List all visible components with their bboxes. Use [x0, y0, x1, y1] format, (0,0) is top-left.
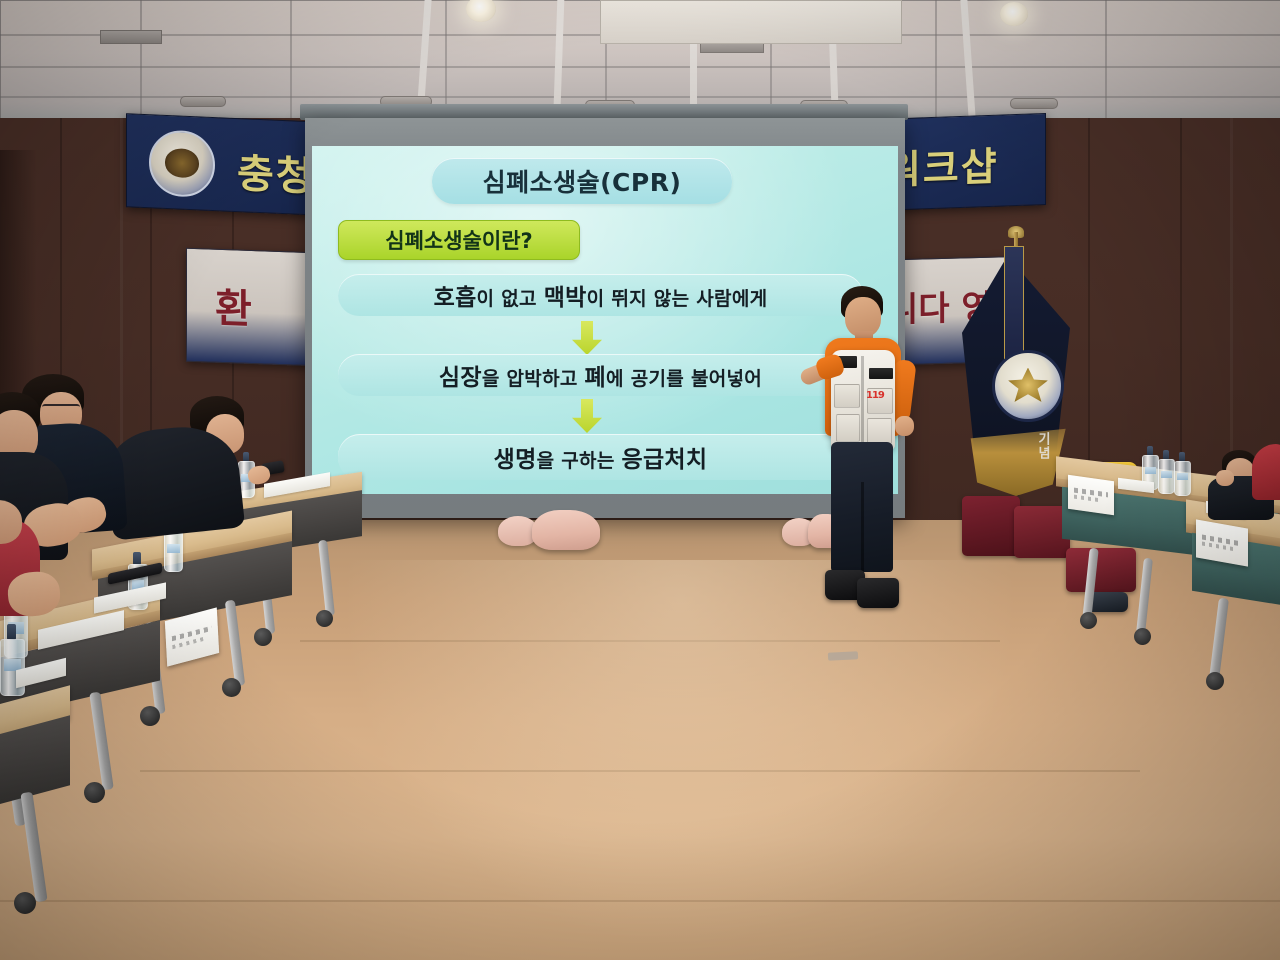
- welcome-banner-left-text: 환: [215, 276, 252, 335]
- row2-keyword-2: 폐: [585, 365, 606, 391]
- table-caster: [140, 706, 160, 726]
- slide-row-3: 생명을 구하는 응급처치: [338, 434, 863, 480]
- attendee-hand: [1216, 470, 1234, 486]
- row1-keyword-1: 호흡: [434, 285, 477, 311]
- projector-housing: [600, 0, 902, 44]
- slide-subtitle-pill: 심폐소생술이란?: [338, 220, 580, 260]
- table-caster: [316, 610, 333, 627]
- row2-keyword-1: 심장: [439, 365, 482, 391]
- table-caster: [1080, 612, 1097, 629]
- row2-text-1: 을 압박하고: [482, 368, 585, 390]
- floor-marker: [828, 651, 858, 661]
- banner-top-left-text: 충청: [237, 141, 315, 202]
- classroom-photo: 충청 워크샵 환 니다 영 기념 심폐소생술(CPR) 심폐소생술이란? 호흡이…: [0, 0, 1280, 960]
- presenter-right-hand: [895, 416, 914, 436]
- slide-row-1: 호흡이 없고 맥박이 뛰지 않는 사람에게: [338, 274, 863, 316]
- presenter: 119: [795, 286, 925, 622]
- table-caster: [222, 678, 241, 697]
- row1-text-2: 이 뛰지 않는 사람에게: [587, 288, 768, 310]
- water-bottle: [1158, 450, 1173, 494]
- water-bottle: [1174, 452, 1189, 496]
- row1-text-1: 이 없고: [477, 288, 544, 310]
- slide-row-2: 심장을 압박하고 폐에 공기를 불어넣어: [338, 354, 863, 396]
- table-caster: [254, 628, 272, 646]
- eyeglasses: [42, 404, 80, 413]
- floor-reflection: [330, 560, 1030, 960]
- row2-text-2: 에 공기를 불어넣어: [606, 368, 762, 390]
- attendee-body: [1252, 444, 1280, 500]
- slide-title: 심폐소생술(CPR): [483, 163, 682, 199]
- row3-keyword-2: 응급처치: [622, 447, 708, 473]
- welcome-banner-left: 환: [186, 248, 316, 367]
- row3-keyword-1: 생명: [494, 447, 537, 473]
- name-placard: [1068, 475, 1114, 515]
- flag-emblem-icon: [992, 350, 1064, 422]
- flag-vertical-text: 기념: [1012, 432, 1052, 484]
- row1-keyword-2: 맥박: [544, 285, 587, 311]
- presenter-boot: [857, 578, 899, 608]
- ceiling-light: [1000, 2, 1028, 26]
- badge-119: 119: [866, 390, 888, 401]
- row3-text-1: 을 구하는: [537, 450, 622, 472]
- luggage-bag: [1066, 548, 1136, 592]
- table-caster: [1206, 672, 1224, 690]
- luggage-bag: [962, 496, 1020, 556]
- slide-title-pill: 심폐소생술(CPR): [432, 158, 732, 204]
- table-caster: [14, 892, 36, 914]
- police-emblem-icon: [149, 129, 215, 198]
- table-caster: [1134, 628, 1151, 645]
- table-caster: [84, 782, 105, 803]
- slide-subtitle: 심폐소생술이란?: [385, 225, 532, 255]
